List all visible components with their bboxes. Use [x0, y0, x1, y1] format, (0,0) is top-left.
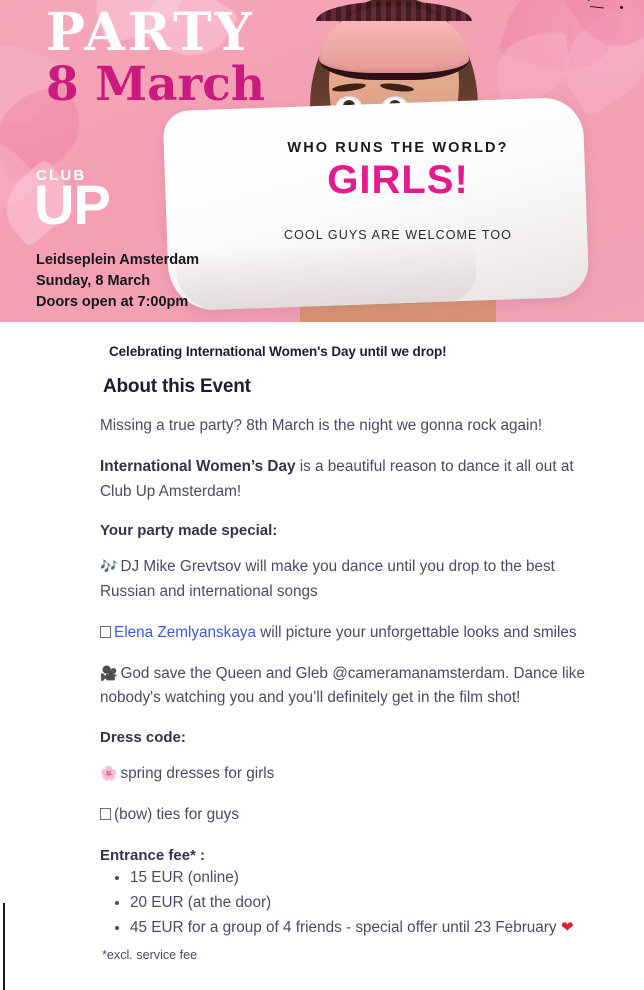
videographer-text: God save the Queen and Gleb @cameramanam… [100, 665, 585, 707]
logo-up-text: UP [34, 179, 110, 231]
slogan-question: WHO RUNS THE WORLD? [248, 140, 548, 156]
womens-day-paragraph: International Women’s Day is a beautiful… [100, 455, 588, 505]
intro-paragraph: Missing a true party? 8th March is the n… [100, 414, 588, 439]
videographer-line: 🎥God save the Queen and Gleb @cameramana… [100, 662, 588, 712]
event-subtitle: Celebrating International Women's Day un… [109, 344, 588, 359]
dress-guys-text: (bow) ties for guys [114, 806, 239, 823]
sleep-mask-ruffle [316, 1, 472, 21]
entrance-fee-heading: Entrance fee* : [100, 847, 588, 864]
dress-code-heading: Dress code: [100, 729, 588, 746]
bow-tie-icon [100, 808, 111, 820]
photographer-line: Elena Zemlyanskaya will picture your unf… [100, 621, 588, 646]
fee-footnote: *excl. service fee [102, 948, 588, 962]
movie-camera-icon: 🎥 [100, 666, 117, 682]
dress-code-guys: (bow) ties for guys [100, 803, 588, 828]
slogan-note: COOL GUYS ARE WELCOME TOO [248, 228, 548, 242]
headline-party: PARTY [46, 6, 265, 61]
party-special-heading: Your party made special: [100, 522, 588, 539]
banner-headline: PARTY 8 March [46, 6, 265, 110]
dress-girls-text: spring dresses for girls [120, 765, 274, 782]
dj-text: DJ Mike Grevtsov will make you dance unt… [100, 558, 555, 600]
venue-doors-time: Doors open at 7:00pm [36, 292, 199, 313]
womens-day-emphasis: International Women’s Day [100, 458, 296, 475]
venue-date: Sunday, 8 March [36, 271, 199, 292]
musical-notes-icon: 🎶 [100, 559, 117, 575]
club-up-logo: CLUB UP [34, 168, 110, 231]
pillow-slogan: WHO RUNS THE WORLD? GIRLS! COOL GUYS ARE… [248, 140, 548, 242]
headline-date: 8 March [46, 59, 265, 111]
list-item: 15 EUR (online) [130, 866, 588, 890]
camera-photo-icon [100, 626, 111, 638]
list-item: 45 EUR for a group of 4 friends - specia… [130, 916, 588, 940]
venue-location: Leidseplein Amsterdam [36, 250, 199, 271]
event-description: Celebrating International Women's Day un… [0, 344, 644, 962]
page-title: About this Event [103, 376, 588, 398]
entrance-fee-list: 15 EUR (online) 20 EUR (at the door) 45 … [100, 866, 588, 940]
red-heart-icon: ❤ [561, 918, 574, 936]
dress-code-girls: 🌸spring dresses for girls [100, 762, 588, 787]
dj-line: 🎶DJ Mike Grevtsov will make you dance un… [100, 555, 588, 605]
photographer-rest: will picture your unforgettable looks an… [256, 624, 577, 641]
venue-info: Leidseplein Amsterdam Sunday, 8 March Do… [36, 250, 199, 313]
slogan-answer: GIRLS! [248, 159, 548, 202]
cherry-blossom-icon: 🌸 [100, 766, 117, 782]
group-offer-text: 45 EUR for a group of 4 friends - specia… [130, 919, 561, 936]
photographer-link[interactable]: Elena Zemlyanskaya [114, 624, 256, 641]
event-hero-banner: PARTY 8 March CLUB UP Leidseplein Amster… [0, 0, 644, 322]
list-item: 20 EUR (at the door) [130, 891, 588, 915]
page-edge-rule [3, 903, 5, 990]
